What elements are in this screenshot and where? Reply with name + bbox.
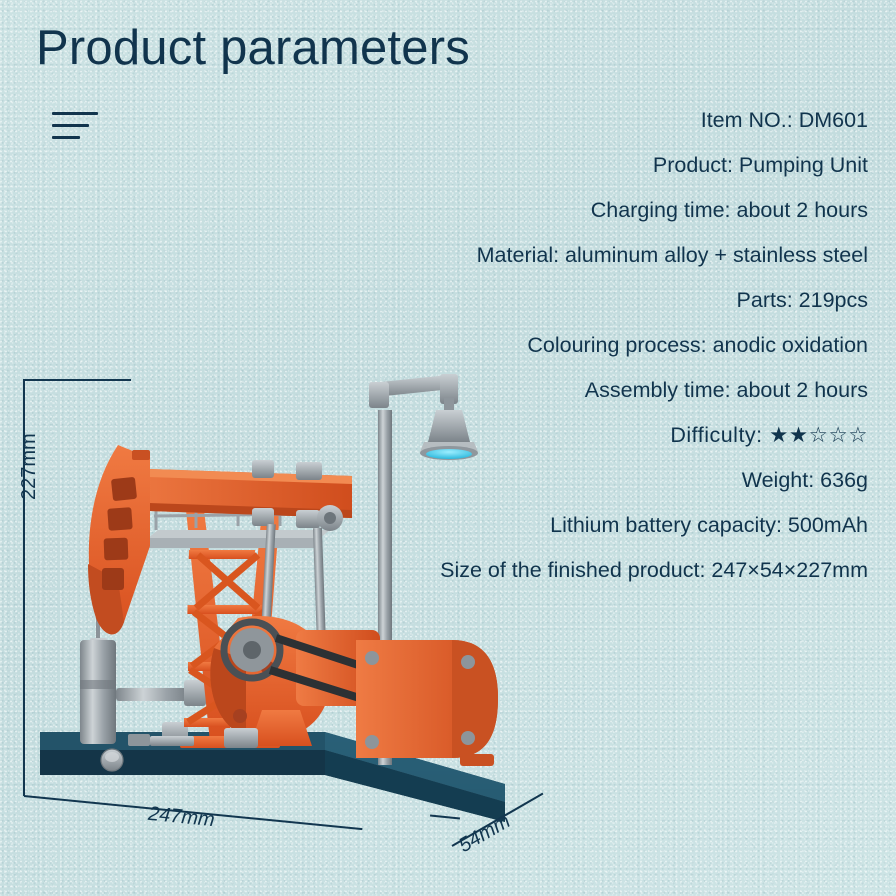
walking-beam xyxy=(118,460,352,531)
spec-battery: Lithium battery capacity: 500mAh xyxy=(440,503,868,548)
spec-weight: Weight: 636g xyxy=(440,458,868,503)
spec-difficulty-rating: Difficulty: ★★☆☆☆ xyxy=(440,413,868,458)
horse-head-counterweight xyxy=(88,445,150,634)
decorative-rule-3 xyxy=(52,136,80,139)
title-decorative-rules xyxy=(52,112,98,148)
decorative-rule-2 xyxy=(52,124,89,127)
height-dimension-tick xyxy=(23,379,131,381)
spec-parts-count: Parts: 219pcs xyxy=(440,278,868,323)
decorative-rule-1 xyxy=(52,112,98,115)
spec-finished-size: Size of the finished product: 247×54×227… xyxy=(440,548,868,593)
page-title: Product parameters xyxy=(36,24,470,73)
spec-item-no: Item NO.: DM601 xyxy=(440,98,868,143)
specification-list: Item NO.: DM601 Product: Pumping Unit Ch… xyxy=(440,98,868,593)
spec-charging-time: Charging time: about 2 hours xyxy=(440,188,868,233)
height-dimension-label: 227mm xyxy=(18,433,41,500)
spec-colouring: Colouring process: anodic oxidation xyxy=(440,323,868,368)
spec-assembly-time: Assembly time: about 2 hours xyxy=(440,368,868,413)
spec-material: Material: aluminum alloy + stainless ste… xyxy=(440,233,868,278)
gearbox-housing xyxy=(356,640,498,766)
wellhead xyxy=(80,640,206,746)
spec-product-name: Product: Pumping Unit xyxy=(440,143,868,188)
